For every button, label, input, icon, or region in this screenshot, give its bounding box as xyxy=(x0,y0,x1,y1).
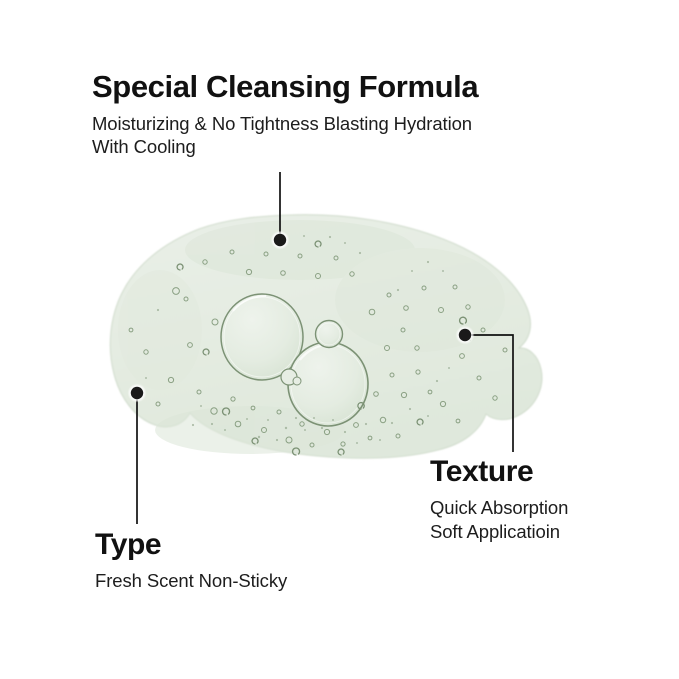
callout-texture-body: Quick Absorption Soft Applicatioin xyxy=(430,496,660,544)
callout-type-body: Fresh Scent Non-Sticky xyxy=(95,569,375,593)
header-block: Special Cleansing Formula Moisturizing &… xyxy=(92,70,592,159)
callout-leader-formula xyxy=(271,172,290,250)
callout-type: Type Fresh Scent Non-Sticky xyxy=(95,528,375,593)
callout-type-line-1: Fresh Scent Non-Sticky xyxy=(95,570,287,591)
callout-texture-heading: Texture xyxy=(430,455,660,488)
page-subtitle: Moisturizing & No Tightness Blasting Hyd… xyxy=(92,112,592,159)
callout-texture-line-2: Soft Applicatioin xyxy=(430,521,560,542)
page-subtitle-line-2: With Cooling xyxy=(92,136,196,157)
bubble-small xyxy=(316,321,343,348)
callout-texture-line-1: Quick Absorption xyxy=(430,497,568,518)
callout-texture: Texture Quick Absorption Soft Applicatio… xyxy=(430,455,660,544)
callout-type-heading: Type xyxy=(95,528,375,561)
product-infographic: Special Cleansing Formula Moisturizing &… xyxy=(0,0,679,679)
page-title: Special Cleansing Formula xyxy=(92,70,592,105)
page-subtitle-line-1: Moisturizing & No Tightness Blasting Hyd… xyxy=(92,113,472,134)
